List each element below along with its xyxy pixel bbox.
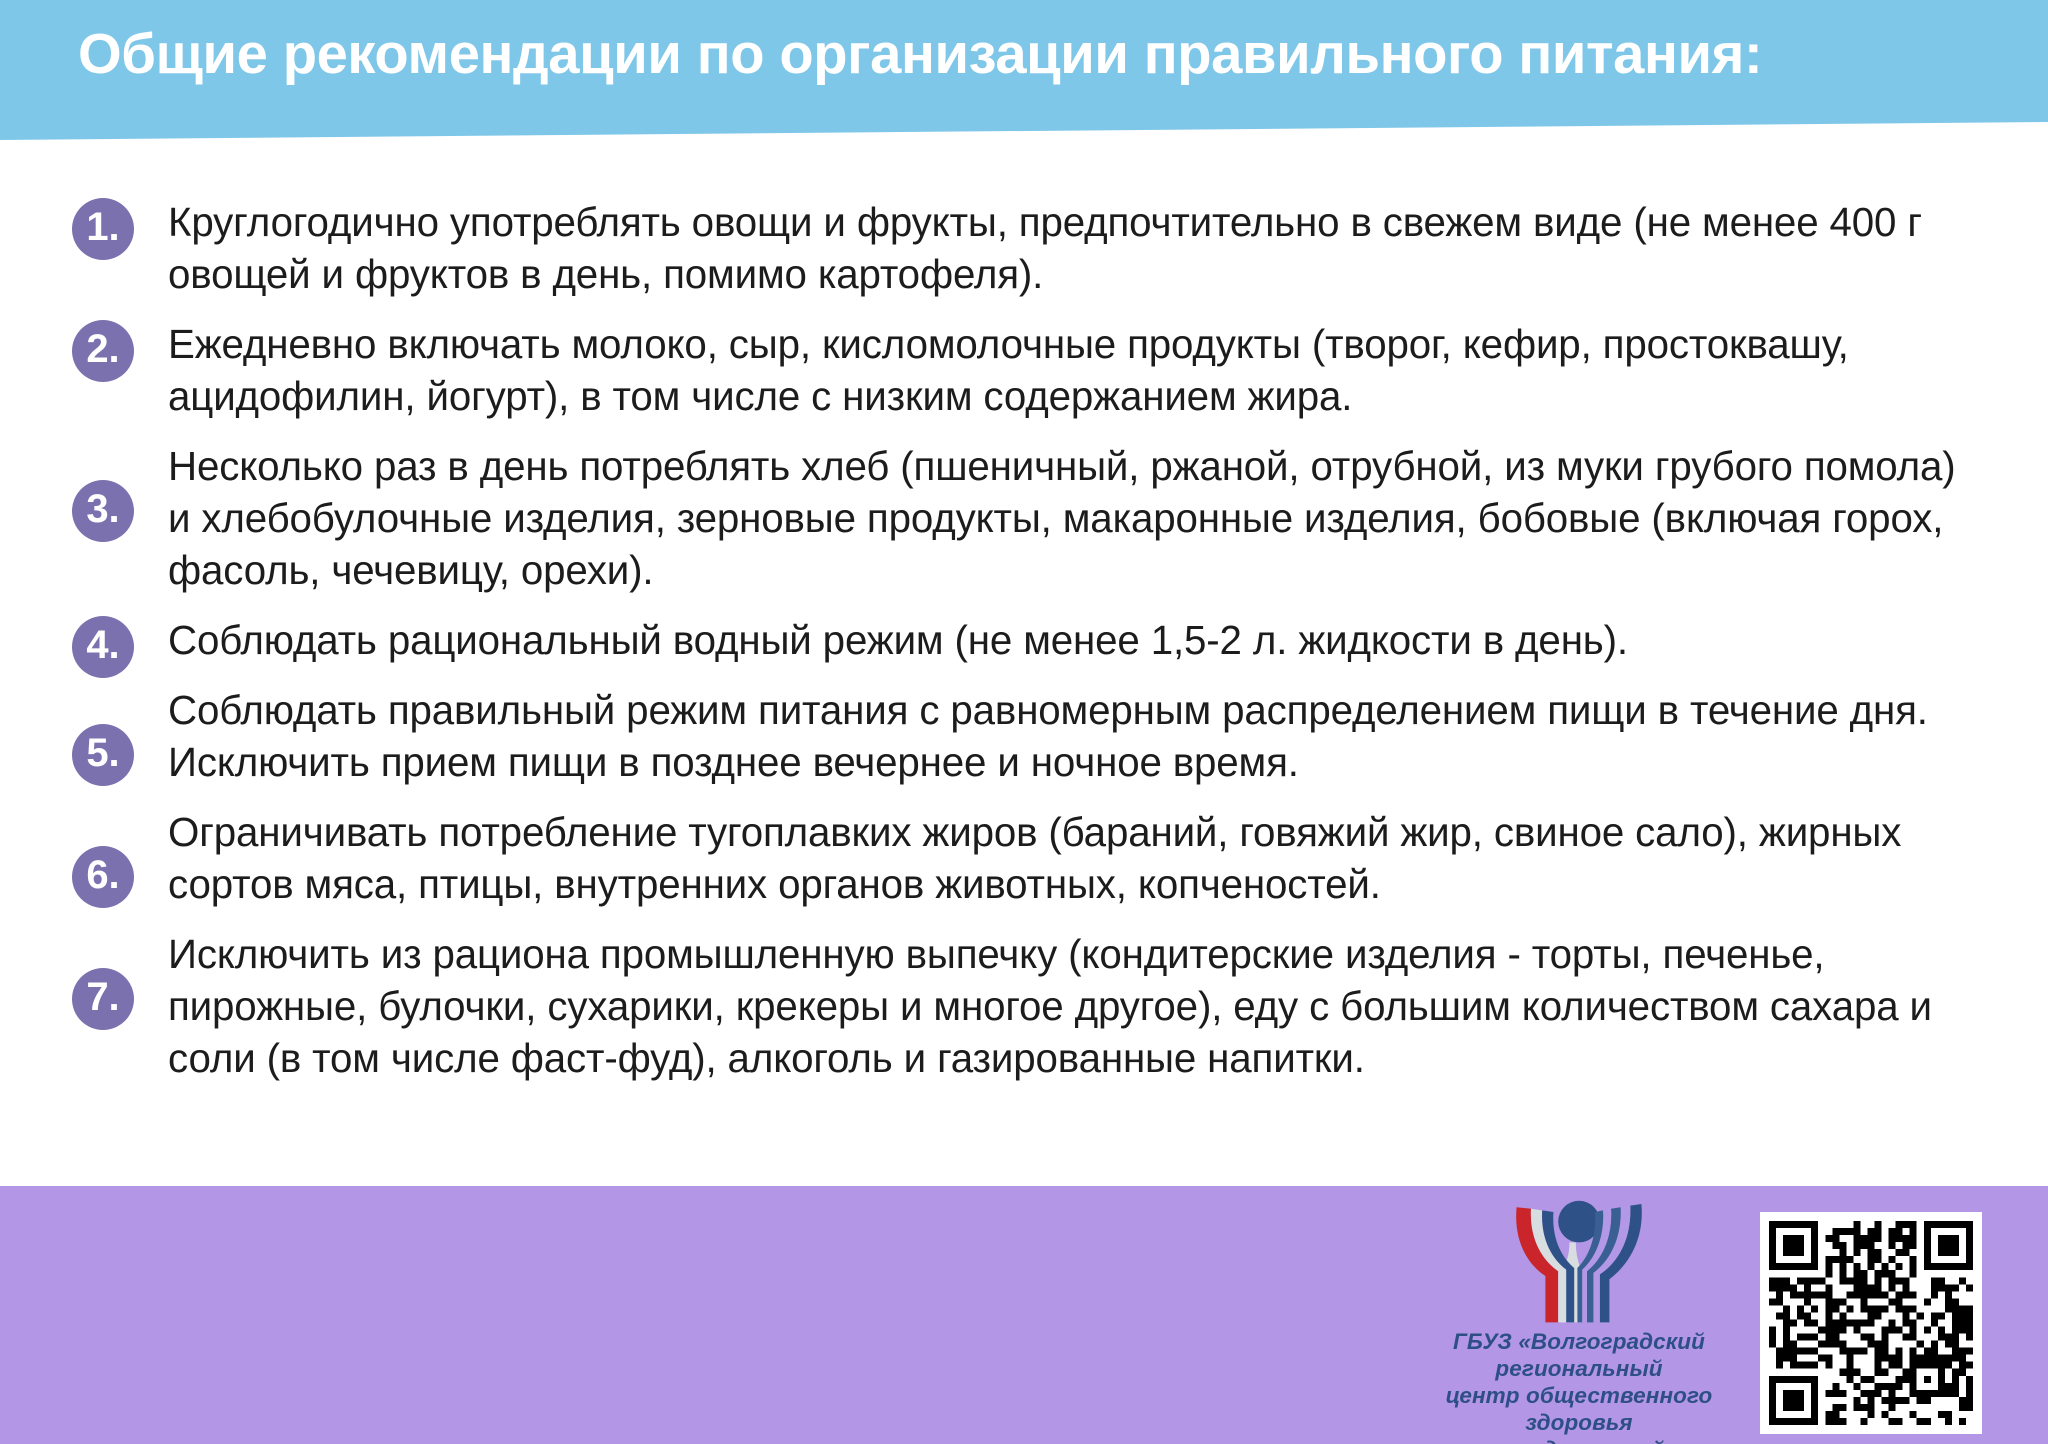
organization-caption-line-1: ГБУЗ «Волгоградский региональный <box>1414 1328 1744 1382</box>
list-number-badge: 1. <box>72 198 134 260</box>
list-item-text: Круглогодично употреблять овощи и фрукты… <box>168 196 1963 300</box>
list-item-text: Соблюдать правильный режим питания с рав… <box>168 684 1963 788</box>
list-item: 3. Несколько раз в день потреблять хлеб … <box>0 440 2048 596</box>
list-number-label: 7. <box>86 977 119 1017</box>
list-number-label: 3. <box>86 489 119 529</box>
list-item-text: Ежедневно включать молоко, сыр, кисломол… <box>168 318 1963 422</box>
list-number-label: 4. <box>86 625 119 665</box>
footer-content: ГБУЗ «Волгоградский региональный центр о… <box>0 1186 2048 1444</box>
page-title: Общие рекомендации по организации правил… <box>78 25 1979 85</box>
list-number-badge: 2. <box>72 320 134 382</box>
list-number-label: 2. <box>86 329 119 369</box>
organization-logo-block: ГБУЗ «Волгоградский региональный центр о… <box>1414 1196 1744 1444</box>
list-item: 1. Круглогодично употреблять овощи и фру… <box>0 196 2048 300</box>
list-number-label: 6. <box>86 855 119 895</box>
list-number-badge: 3. <box>72 480 134 542</box>
list-item-text: Исключить из рациона промышленную выпечк… <box>168 928 1963 1084</box>
list-item-text: Ограничивать потребление тугоплавких жир… <box>168 806 1963 910</box>
list-item: 5. Соблюдать правильный режим питания с … <box>0 684 2048 788</box>
list-number-badge: 4. <box>72 616 134 678</box>
list-item: 7. Исключить из рациона промышленную вып… <box>0 928 2048 1084</box>
list-item: 4. Соблюдать рациональный водный режим (… <box>0 614 2048 666</box>
recommendations-list: 1. Круглогодично употреблять овощи и фру… <box>0 196 2048 1102</box>
health-center-logo-icon <box>1499 1196 1659 1324</box>
organization-caption-line-2: центр общественного здоровья <box>1414 1382 1744 1436</box>
list-item-text: Соблюдать рациональный водный режим (не … <box>168 614 1628 666</box>
list-number-badge: 5. <box>72 724 134 786</box>
footer-band: ГБУЗ «Волгоградский региональный центр о… <box>0 1186 2048 1444</box>
qr-code-image <box>1769 1221 1973 1425</box>
list-item: 6. Ограничивать потребление тугоплавких … <box>0 806 2048 910</box>
list-number-label: 1. <box>86 207 119 247</box>
list-number-badge: 7. <box>72 968 134 1030</box>
list-item: 2. Ежедневно включать молоко, сыр, кисло… <box>0 318 2048 422</box>
list-number-label: 5. <box>86 733 119 773</box>
list-item-text: Несколько раз в день потреблять хлеб (пш… <box>168 440 1963 596</box>
poster-root: Общие рекомендации по организации правил… <box>0 0 2048 1444</box>
organization-caption-line-3: и медицинской профилактики» <box>1414 1436 1744 1444</box>
list-number-badge: 6. <box>72 846 134 908</box>
qr-code[interactable] <box>1760 1212 1982 1434</box>
organization-caption: ГБУЗ «Волгоградский региональный центр о… <box>1414 1328 1744 1444</box>
